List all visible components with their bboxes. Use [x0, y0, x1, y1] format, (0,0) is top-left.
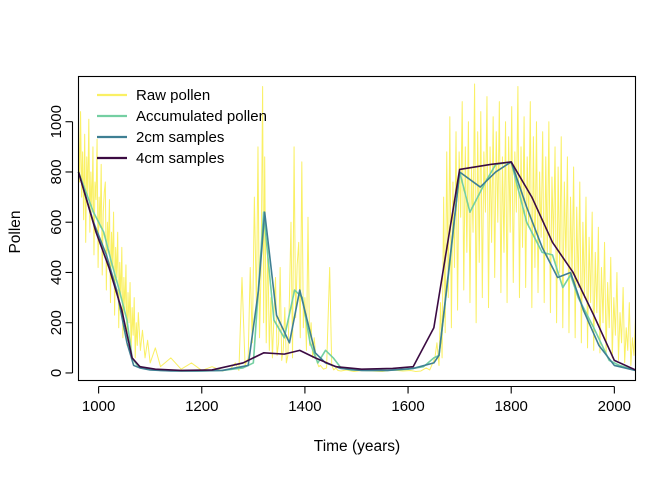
- y-tick-label: 0: [48, 369, 65, 377]
- legend-label-samples-4cm: 4cm samples: [136, 150, 224, 167]
- legend-label-raw-pollen: Raw pollen: [136, 87, 210, 104]
- legend-label-accumulated-pollen: Accumulated pollen: [136, 108, 267, 125]
- x-tick-label: 1000: [82, 398, 115, 415]
- x-tick-label: 2000: [598, 398, 631, 415]
- y-tick-label: 200: [48, 310, 65, 335]
- y-axis-title: Pollen: [7, 210, 24, 253]
- y-tick-label: 1000: [48, 105, 65, 138]
- y-tick-label: 400: [48, 260, 65, 285]
- pollen-chart-figure: 100012001400160018002000 020040060080010…: [0, 0, 672, 480]
- y-tick-label: 800: [48, 159, 65, 184]
- chart-canvas: 100012001400160018002000 020040060080010…: [0, 0, 672, 480]
- x-tick-label: 1200: [185, 398, 218, 415]
- x-axis-title: Time (years): [314, 438, 400, 455]
- x-tick-label: 1400: [288, 398, 321, 415]
- x-tick-label: 1800: [495, 398, 528, 415]
- x-tick-label: 1600: [391, 398, 424, 415]
- legend-label-samples-2cm: 2cm samples: [136, 129, 224, 146]
- y-tick-label: 600: [48, 210, 65, 235]
